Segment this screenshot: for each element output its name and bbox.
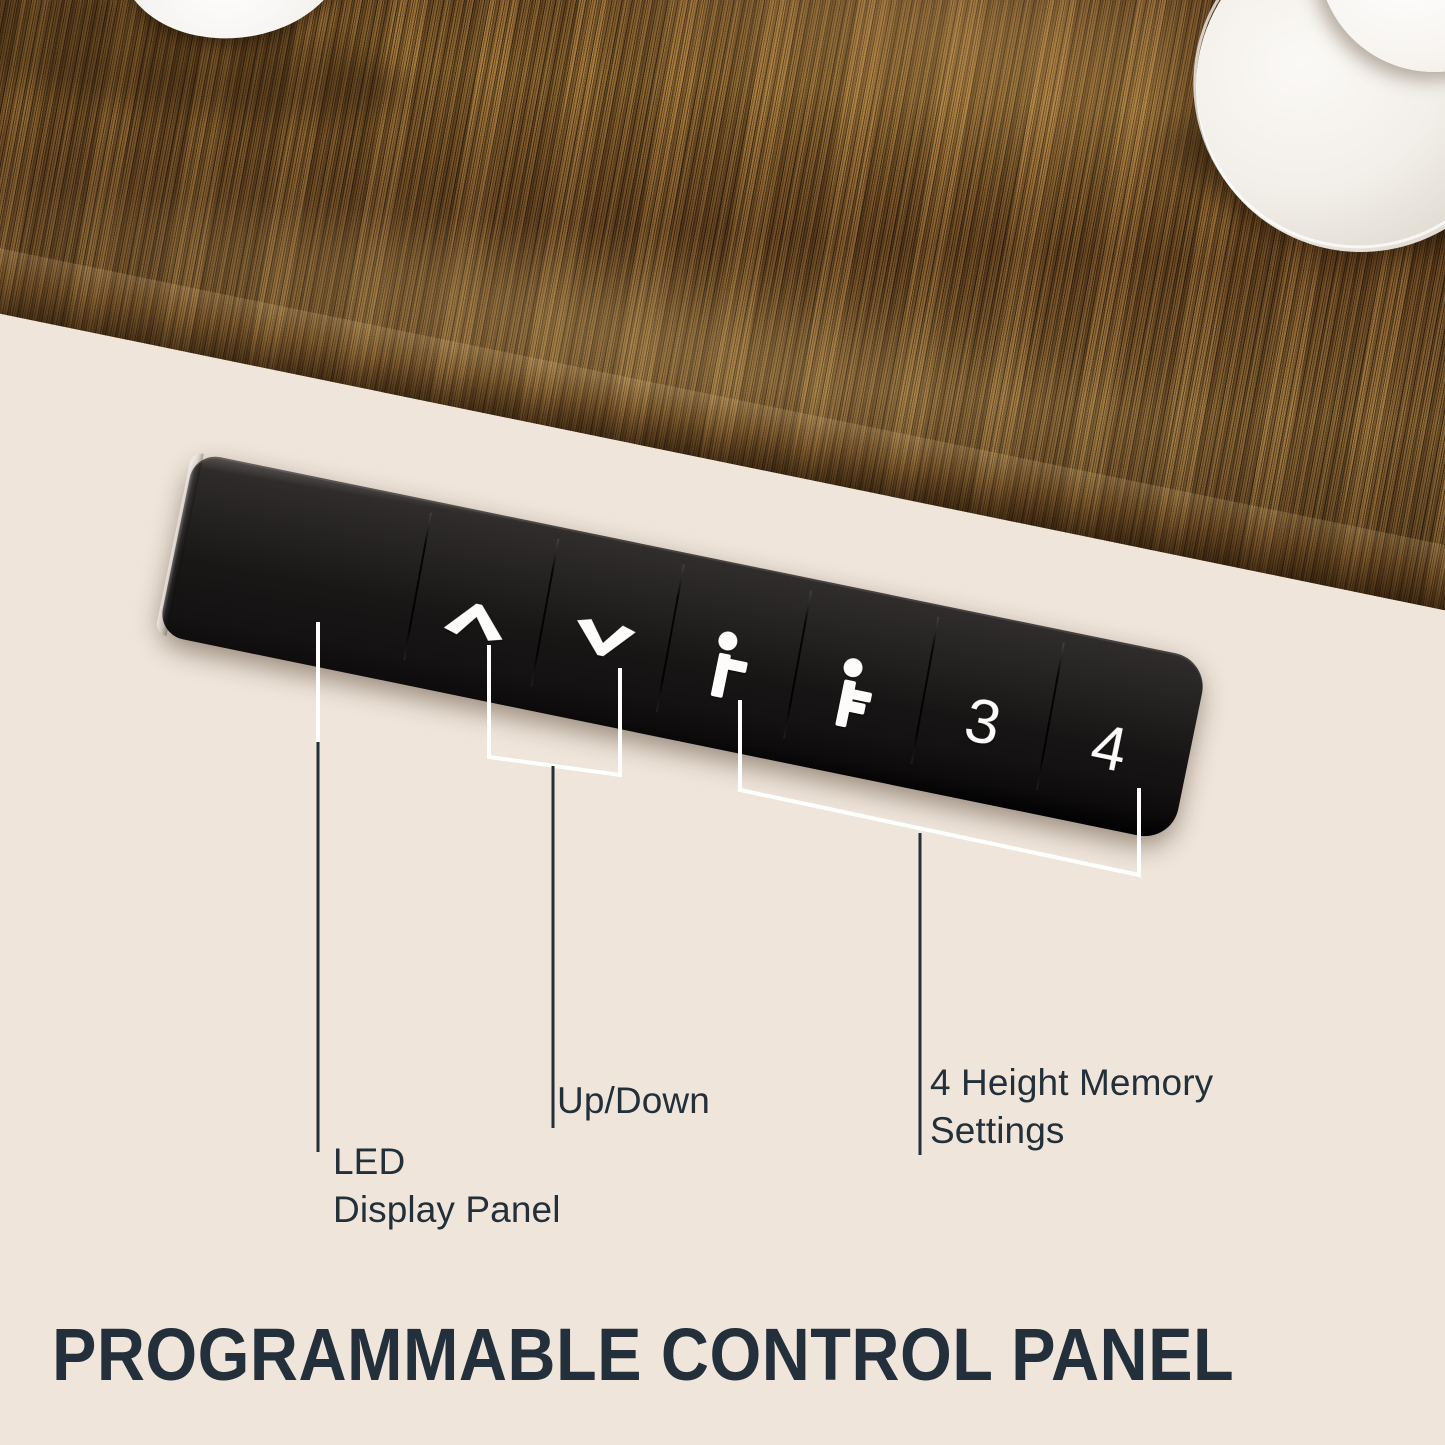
headline-text: PROGRAMMABLE CONTROL PANEL <box>52 1312 1234 1397</box>
led-display-panel[interactable] <box>158 452 434 683</box>
chevron-up-icon <box>436 587 517 651</box>
chevron-down-icon <box>562 613 643 677</box>
callout-height-memory-settings: 4 Height Memory Settings <box>930 1059 1213 1155</box>
callout-led-display-panel: LED Display Panel <box>333 1138 561 1234</box>
callout-up-down: Up/Down <box>557 1077 710 1125</box>
memory-4-label: 4 <box>1086 715 1132 783</box>
scene-stage: 3 4 LED Display Panel Up/Down 4 Height M… <box>0 0 1445 1445</box>
standing-person-icon <box>695 627 762 715</box>
sitting-person-icon <box>823 653 890 741</box>
memory-3-label: 3 <box>959 689 1005 757</box>
